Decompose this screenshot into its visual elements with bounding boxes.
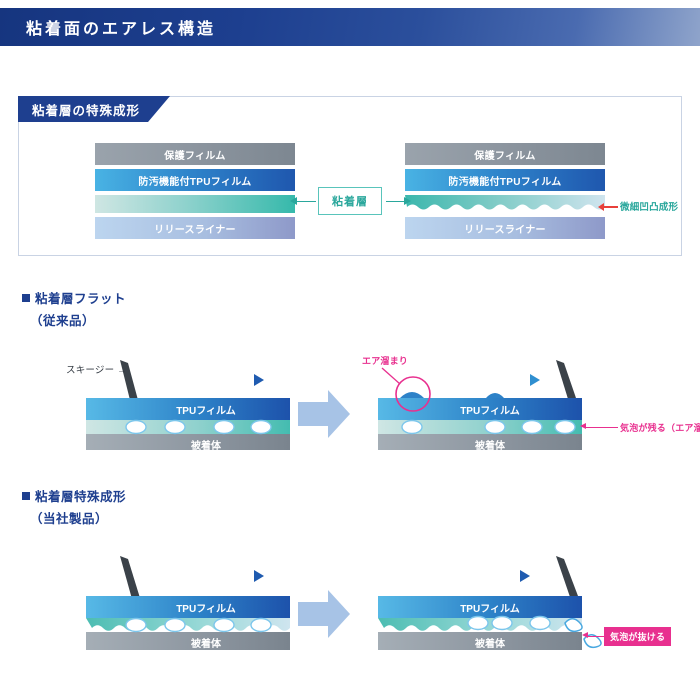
- special-after-illustration: [360, 550, 615, 650]
- bubble-escape-leader-head: [582, 632, 588, 638]
- bullet-square-icon: [22, 492, 30, 500]
- arrow-to-right-stack-line: [386, 201, 406, 203]
- tpu-film-band: [378, 596, 582, 618]
- special-before-svg: [58, 550, 290, 650]
- adhesive-layer-callout: 粘着層: [318, 187, 382, 215]
- layer-tpu-film: 防汚機能付TPUフィルム: [95, 169, 295, 191]
- layer-label: 保護フィルム: [474, 147, 535, 162]
- layer-label: 防汚機能付TPUフィルム: [448, 173, 561, 188]
- squeegee-icon: [556, 556, 578, 597]
- substrate-band: [86, 434, 290, 450]
- layer-protect-film: 保護フィルム: [405, 143, 605, 165]
- substrate-band: [378, 434, 582, 450]
- direction-arrow-icon: [144, 374, 264, 386]
- layer-label: リリースライナー: [464, 221, 546, 236]
- layer-adhesive-flat: [95, 195, 295, 213]
- layer-adhesive-textured: [405, 195, 605, 213]
- film-bulge: [400, 392, 424, 398]
- micro-texture-note: 微細凹凸成形: [620, 199, 678, 213]
- layer-release-liner: リリースライナー: [405, 217, 605, 239]
- migrating-bubbles: [468, 617, 550, 630]
- layer-protect-film: 保護フィルム: [95, 143, 295, 165]
- air-pocket-callout: エア溜まり: [362, 354, 408, 367]
- layer-tpu-film: 防汚機能付TPUフィルム: [405, 169, 605, 191]
- title-bar: 粘着面のエアレス構造: [0, 8, 700, 46]
- section-flat-heading: 粘着層フラット: [22, 288, 126, 307]
- layer-label: 防汚機能付TPUフィルム: [138, 173, 251, 188]
- substrate-band: [86, 632, 290, 650]
- tpu-film-band: [86, 398, 290, 420]
- section-flat-subheading: （従来品）: [30, 310, 95, 329]
- bubble-escape-callout: 気泡が抜ける: [604, 627, 671, 646]
- tpu-film-band: [378, 398, 582, 420]
- arrow-to-left-stack-line: [296, 201, 316, 203]
- arrow-to-left-stack-head: [290, 197, 297, 205]
- film-bulge: [486, 393, 504, 398]
- micro-texture-arrow-icon: [604, 206, 618, 208]
- squeegee-icon: [556, 360, 576, 399]
- page-title: 粘着面のエアレス構造: [26, 15, 216, 39]
- direction-arrow-icon: [144, 570, 264, 582]
- residual-bubble-callout: 気泡が残る（エア溜り）: [620, 421, 700, 434]
- residual-bubble-leader-line: [586, 427, 618, 428]
- section-special-heading: 粘着層特殊成形: [22, 486, 126, 505]
- special-before-illustration: [58, 550, 290, 650]
- bullet-square-icon: [22, 294, 30, 302]
- squeegee-label: スキージー →: [66, 362, 127, 376]
- squeegee-icon: [120, 556, 140, 599]
- wavy-adhesive-shape: [405, 195, 605, 213]
- panel-tab-label: 粘着層の特殊成形: [18, 96, 170, 122]
- flow-arrow-special: [296, 588, 352, 645]
- tpu-film-band: [86, 596, 290, 618]
- flow-arrow-flat: [296, 388, 352, 445]
- section-special-subheading: （当社製品）: [30, 508, 108, 527]
- substrate-band: [378, 632, 582, 650]
- layer-stack-flat: 保護フィルム 防汚機能付TPUフィルム リリースライナー: [95, 143, 295, 243]
- special-after-svg: [360, 550, 615, 650]
- layer-label: 保護フィルム: [164, 147, 225, 162]
- layer-stack-textured: 保護フィルム 防汚機能付TPUフィルム リリースライナー: [405, 143, 605, 243]
- air-pocket-leader-line: [382, 368, 400, 384]
- residual-bubble-leader-head: [580, 423, 586, 429]
- direction-arrow-icon: [426, 374, 540, 386]
- direction-arrow-icon: [418, 570, 530, 582]
- diagram-root: 粘着面のエアレス構造 粘着層の特殊成形 保護フィルム 防汚機能付TPUフィルム …: [0, 0, 700, 700]
- arrow-to-right-stack-head: [404, 197, 411, 205]
- layer-release-liner: リリースライナー: [95, 217, 295, 239]
- layer-label: リリースライナー: [154, 221, 236, 236]
